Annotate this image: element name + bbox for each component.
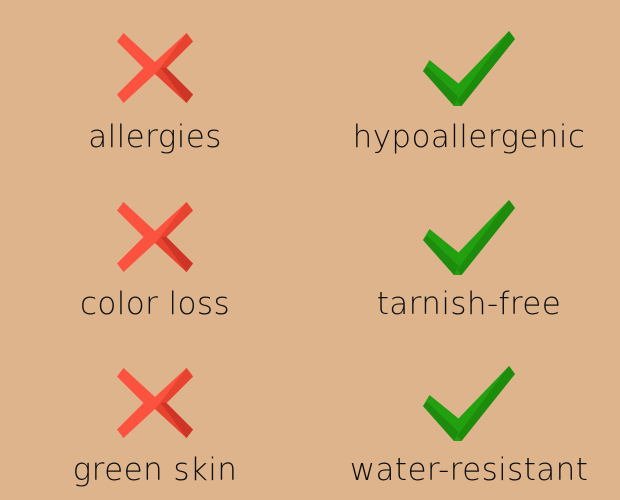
check-icon-wrapper: [423, 16, 515, 120]
label-negative: green skin: [73, 455, 238, 486]
check-icon-wrapper: [423, 351, 515, 455]
cell-positive-tarnish-free: tarnish-free: [310, 167, 620, 334]
check-icon: [423, 28, 515, 108]
cell-positive-hypoallergenic: hypoallergenic: [310, 0, 620, 167]
label-negative: allergies: [88, 122, 222, 153]
label-positive: water-resistant: [350, 455, 589, 486]
cross-icon: [113, 29, 197, 107]
label-positive: tarnish-free: [377, 289, 562, 320]
cross-icon-wrapper: [113, 351, 197, 455]
cross-icon: [113, 198, 197, 276]
label-positive: hypoallergenic: [353, 122, 586, 153]
cell-negative-green-skin: green skin: [0, 333, 310, 500]
cell-positive-water-resistant: water-resistant: [310, 333, 620, 500]
check-icon-wrapper: [423, 185, 515, 289]
cell-negative-allergies: allergies: [0, 0, 310, 167]
check-icon: [423, 197, 515, 277]
cell-negative-color-loss: color loss: [0, 167, 310, 334]
cross-icon-wrapper: [113, 185, 197, 289]
label-negative: color loss: [80, 289, 230, 320]
cross-icon-wrapper: [113, 16, 197, 120]
check-icon: [423, 363, 515, 443]
cross-icon: [113, 364, 197, 442]
comparison-grid: allergies hypoallergenic: [0, 0, 620, 500]
